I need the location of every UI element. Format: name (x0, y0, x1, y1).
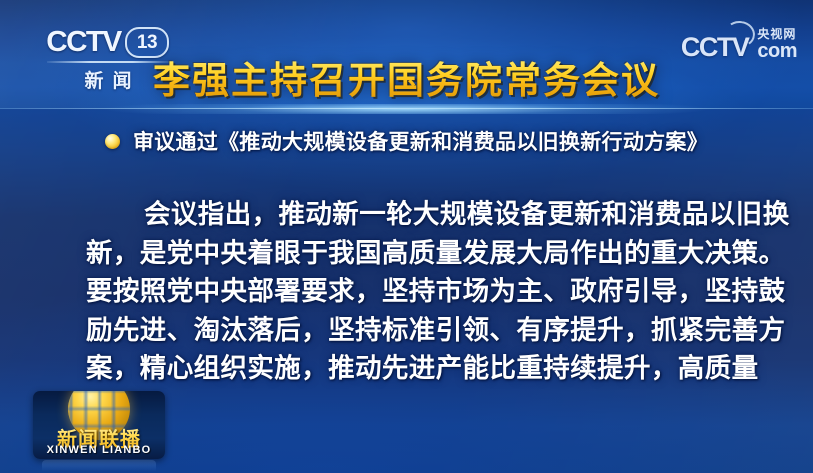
bullet-dot-icon (105, 134, 120, 149)
body-line: 会议指出，推动新一轮大规模设备更新和消费品以旧换 (86, 196, 767, 235)
program-logo-reflection (42, 460, 156, 471)
body-line: 案，精心组织实施，推动先进产能比重持续提升，高质量 (86, 350, 767, 389)
news-broadcast-frame: CCTV 13 新闻 CCTV 央视网 com 李强主持召开国务院常务会议 审议… (0, 0, 813, 473)
body-line: 新，是党中央着眼于我国高质量发展大局作出的重大决策。 (86, 235, 767, 274)
page-title: 李强主持召开国务院常务会议 (153, 50, 660, 104)
subtitle-text: 审议通过《推动大规模设备更新和消费品以旧换新行动方案》 (133, 126, 708, 156)
cctv-com-site-cn: 央视网 (757, 28, 797, 40)
subtitle-row: 审议通过《推动大规模设备更新和消费品以旧换新行动方案》 (0, 126, 813, 156)
program-logo: 新闻联播 XINWEN LIANBO (33, 391, 165, 459)
body-line: 要按照党中央部署要求，坚持市场为主、政府引导，坚持鼓 (86, 273, 767, 312)
headline-container: 李强主持召开国务院常务会议 (0, 50, 813, 104)
banner-divider-line (0, 108, 813, 109)
program-name-en: XINWEN LIANBO (33, 444, 165, 456)
body-paragraph: 会议指出，推动新一轮大规模设备更新和消费品以旧换 新，是党中央着眼于我国高质量发… (86, 196, 767, 389)
body-line: 励先进、淘汰落后，坚持标准引领、有序提升，抓紧完善方 (86, 312, 767, 351)
